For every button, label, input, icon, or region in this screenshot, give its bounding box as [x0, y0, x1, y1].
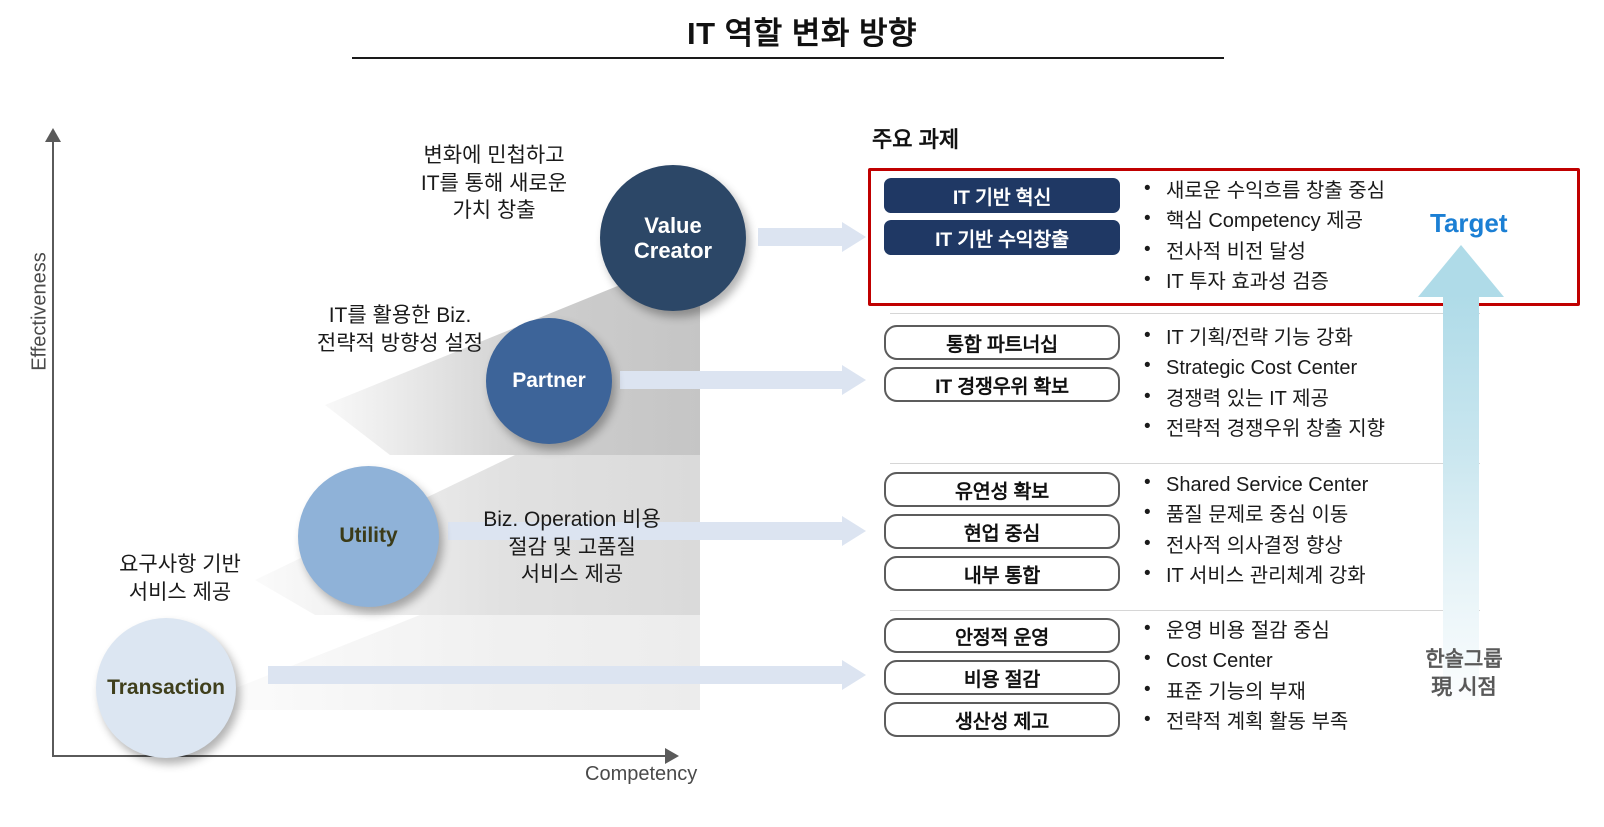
slide-canvas: IT 역할 변화 방향	[0, 0, 1604, 827]
bubble-transaction[interactable]: Transaction	[96, 618, 236, 758]
flow-arrow-transaction	[268, 660, 866, 690]
bullet-item: 핵심 Competency 제공	[1140, 206, 1385, 236]
task-bullets: IT 기획/전략 기능 강화 Strategic Cost Center 경쟁력…	[1140, 323, 1385, 445]
flow-arrow-value-creator	[758, 222, 866, 252]
section-divider	[890, 313, 1480, 314]
task-bullets: Shared Service Center 품질 문제로 중심 이동 전사적 의…	[1140, 470, 1368, 592]
bullet-item: IT 기획/전략 기능 강화	[1140, 323, 1385, 353]
callout-line: IT를 활용한 Biz.	[250, 302, 550, 330]
current-state-label: 한솔그룹 現 시점	[1404, 646, 1524, 702]
task-bullets: 운영 비용 절감 중심 Cost Center 표준 기능의 부재 전략적 계획…	[1140, 616, 1348, 738]
callout-line: 서비스 제공	[442, 561, 702, 589]
y-axis-line	[52, 140, 54, 757]
callout-transaction: 요구사항 기반 서비스 제공	[70, 551, 290, 606]
task-tag[interactable]: IT 기반 수익창출	[884, 220, 1120, 255]
panel-heading: 주요 과제	[872, 122, 959, 154]
callout-value-creator: 변화에 민첩하고 IT를 통해 새로운 가치 창출	[380, 142, 608, 225]
bullet-item: 전사적 비전 달성	[1140, 237, 1385, 267]
bubble-label-line1: Value	[644, 213, 701, 238]
target-up-arrow-icon	[1418, 245, 1504, 700]
bullet-item: 경쟁력 있는 IT 제공	[1140, 384, 1385, 414]
task-tag[interactable]: 내부 통합	[884, 556, 1120, 591]
tag-column: 통합 파트너십 IT 경쟁우위 확보	[884, 325, 1120, 409]
bubble-label-line2: Creator	[634, 238, 712, 263]
task-tag[interactable]: 생산성 제고	[884, 702, 1120, 737]
tag-column: 안정적 운영 비용 절감 생산성 제고	[884, 618, 1120, 744]
bullet-item: 전략적 계획 활동 부족	[1140, 707, 1348, 737]
task-tag[interactable]: 통합 파트너십	[884, 325, 1120, 360]
callout-line: Biz. Operation 비용	[442, 506, 702, 534]
bullet-item: 품질 문제로 중심 이동	[1140, 500, 1368, 530]
y-axis-label: Effectiveness	[29, 212, 52, 412]
bubble-value-creator[interactable]: Value Creator	[600, 165, 746, 311]
title-underline	[352, 57, 1224, 59]
section-divider	[890, 463, 1480, 464]
flow-arrow-partner	[620, 365, 866, 395]
callout-line: 요구사항 기반	[70, 551, 290, 579]
bullet-item: IT 투자 효과성 검증	[1140, 267, 1385, 297]
tag-column: IT 기반 혁신 IT 기반 수익창출	[884, 178, 1120, 262]
page-title: IT 역할 변화 방향	[0, 8, 1604, 53]
section-divider	[890, 610, 1480, 611]
target-arrow-head	[1418, 245, 1504, 297]
callout-line: 절감 및 고품질	[442, 534, 702, 562]
callout-line: IT를 통해 새로운	[380, 170, 608, 198]
task-tag[interactable]: IT 기반 혁신	[884, 178, 1120, 213]
target-arrow-shaft	[1443, 295, 1479, 700]
callout-line: 서비스 제공	[70, 579, 290, 607]
y-axis-arrowhead-icon	[45, 128, 61, 142]
bullet-item: Cost Center	[1140, 646, 1348, 676]
task-bullets: 새로운 수익흐름 창출 중심 핵심 Competency 제공 전사적 비전 달…	[1140, 176, 1385, 298]
bullet-item: 운영 비용 절감 중심	[1140, 616, 1348, 646]
callout-utility: Biz. Operation 비용 절감 및 고품질 서비스 제공	[442, 506, 702, 589]
bullet-item: Shared Service Center	[1140, 470, 1368, 500]
x-axis-arrowhead-icon	[665, 748, 679, 764]
bullet-item: 전사적 의사결정 향상	[1140, 531, 1368, 561]
task-tag[interactable]: 안정적 운영	[884, 618, 1120, 653]
callout-line: 변화에 민첩하고	[380, 142, 608, 170]
target-label: Target	[1430, 208, 1508, 239]
bubble-label: Utility	[339, 524, 397, 548]
bubble-label: Transaction	[107, 676, 225, 700]
bubble-partner[interactable]: Partner	[486, 318, 612, 444]
tag-column: 유연성 확보 현업 중심 내부 통합	[884, 472, 1120, 598]
bullet-item: 새로운 수익흐름 창출 중심	[1140, 176, 1385, 206]
bullet-item: Strategic Cost Center	[1140, 353, 1385, 383]
task-tag[interactable]: 현업 중심	[884, 514, 1120, 549]
bubble-utility[interactable]: Utility	[298, 466, 439, 607]
current-state-line1: 한솔그룹	[1404, 646, 1524, 674]
task-tag[interactable]: IT 경쟁우위 확보	[884, 367, 1120, 402]
callout-line: 가치 창출	[380, 197, 608, 225]
bullet-item: IT 서비스 관리체계 강화	[1140, 561, 1368, 591]
current-state-line2: 現 시점	[1404, 674, 1524, 702]
x-axis-label: Competency	[585, 763, 697, 786]
bubble-label: Partner	[512, 369, 586, 393]
task-tag[interactable]: 비용 절감	[884, 660, 1120, 695]
x-axis-line	[52, 755, 672, 757]
bullet-item: 표준 기능의 부재	[1140, 677, 1348, 707]
task-tag[interactable]: 유연성 확보	[884, 472, 1120, 507]
bullet-item: 전략적 경쟁우위 창출 지향	[1140, 414, 1385, 444]
